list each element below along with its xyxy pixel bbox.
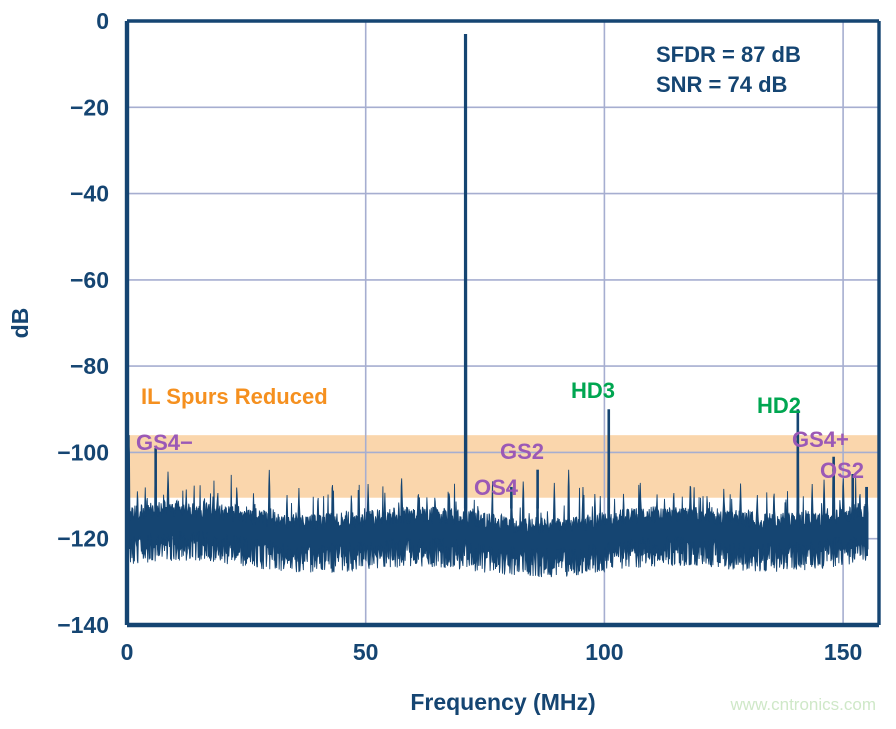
os4-label: OS4 [474,475,519,500]
y-tick-label--20: −20 [70,94,109,120]
y-tick-label--60: −60 [70,267,109,293]
y-tick-label--40: −40 [70,181,109,207]
gs4-minus-label: GS4− [136,430,193,455]
x-tick-label-50: 50 [353,639,379,665]
x-axis-title: Frequency (MHz) [410,689,595,715]
hd3-label: HD3 [571,378,615,403]
y-tick-label--100: −100 [57,439,109,465]
spectrum-right-edge [865,487,868,556]
gs2-label: GS2 [500,439,544,464]
y-tick-label-0: 0 [96,8,109,34]
spectrum-chart-figure: 0 −20 −40 −60 −80 −100 −120 −140 0 50 10… [0,0,896,729]
sfdr-annotation: SFDR = 87 dB [656,42,801,67]
il-spurs-reduced-label: IL Spurs Reduced [141,384,328,409]
x-tick-label-0: 0 [121,639,134,665]
hd2-label: HD2 [757,393,801,418]
watermark-text: www.cntronics.com [730,695,876,714]
y-tick-label--120: −120 [57,526,109,552]
y-tick-label--140: −140 [57,612,109,638]
gs4-plus-label: GS4+ [792,427,849,452]
snr-annotation: SNR = 74 dB [656,72,787,97]
x-tick-label-100: 100 [585,639,623,665]
x-tick-label-150: 150 [824,639,862,665]
y-axis-title: dB [7,308,33,339]
spectrum-chart-svg: 0 −20 −40 −60 −80 −100 −120 −140 0 50 10… [0,0,896,729]
y-tick-label--80: −80 [70,353,109,379]
os2-label: OS2 [820,458,864,483]
